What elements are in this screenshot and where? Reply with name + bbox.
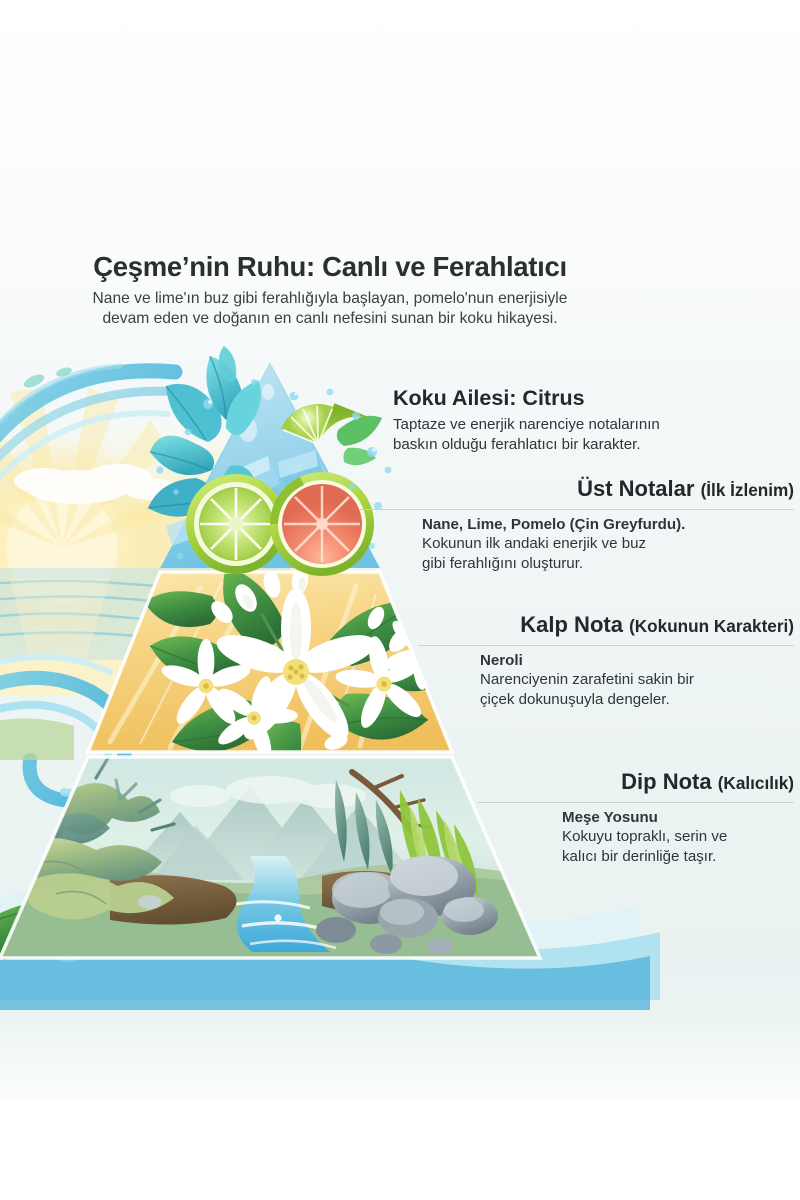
info-block-base-note: Dip Nota (Kalıcılık) Meşe Yosunu Kokuyu … [478, 770, 794, 866]
heart-note-heading-main: Kalp Nota [520, 612, 623, 637]
top-notes-connector-line [360, 509, 794, 510]
top-notes-line-2: gibi ferahlığını oluşturur. [422, 555, 583, 572]
heart-note-connector-line [418, 645, 794, 646]
subtitle-line-1: Nane ve lime'ın buz gibi ferahlığıyla ba… [93, 290, 568, 307]
fragrance-family-body: Taptaze ve enerjik narenciye notalarının… [393, 415, 793, 454]
fragrance-family-line-2: baskın olduğu ferahlatıcı bir karakter. [393, 436, 641, 453]
top-notes-list: Nane, Lime, Pomelo (Çin Greyfurdu). [422, 516, 685, 533]
info-block-top-notes: Üst Notalar (İlk İzlenim) Nane, Lime, Po… [360, 477, 794, 573]
grapefruit-wedge [270, 472, 374, 576]
base-note-connector-line [478, 802, 794, 803]
heart-note-heading: Kalp Nota (Kokunun Karakteri) [418, 613, 794, 638]
info-block-fragrance-family: Koku Ailesi: Citrus Taptaze ve enerjik n… [393, 386, 793, 454]
base-note-line-2: kalıcı bir derinliğe taşır. [562, 848, 716, 865]
header-block: Çeşme’nin Ruhu: Canlı ve Ferahlatıcı Nan… [0, 252, 660, 330]
fragrance-family-heading: Koku Ailesi: Citrus [393, 386, 793, 410]
fragrance-family-line-1: Taptaze ve enerjik narenciye notalarının [393, 416, 660, 433]
top-notes-heading-paren: (İlk İzlenim) [701, 480, 794, 500]
page-title: Çeşme’nin Ruhu: Canlı ve Ferahlatıcı [0, 252, 660, 283]
top-notes-body: Nane, Lime, Pomelo (Çin Greyfurdu). Koku… [360, 515, 794, 573]
infographic-canvas: Çeşme’nin Ruhu: Canlı ve Ferahlatıcı Nan… [0, 0, 800, 1200]
heart-note-line-2: çiçek dokunuşuyla dengeler. [480, 691, 670, 708]
heart-note-heading-paren: (Kokunun Karakteri) [629, 616, 794, 636]
base-note-line-1: Kokuyu topraklı, serin ve [562, 828, 727, 845]
base-note-list: Meşe Yosunu [562, 809, 658, 826]
top-notes-line-1: Kokunun ilk andaki enerjik ve buz [422, 535, 646, 552]
subtitle-line-2: devam eden ve doğanın en canlı nefesini … [102, 310, 557, 327]
base-note-body: Meşe Yosunu Kokuyu topraklı, serin ve ka… [478, 808, 794, 866]
info-block-heart-note: Kalp Nota (Kokunun Karakteri) Neroli Nar… [418, 613, 794, 709]
fragrance-pyramid-illustration [0, 0, 800, 1200]
heart-note-list: Neroli [480, 652, 523, 669]
base-note-heading-main: Dip Nota [621, 769, 711, 794]
base-note-heading: Dip Nota (Kalıcılık) [478, 770, 794, 795]
pyramid-tier-base [0, 750, 560, 970]
top-notes-heading-main: Üst Notalar [577, 476, 694, 501]
top-notes-heading: Üst Notalar (İlk İzlenim) [360, 477, 794, 502]
page-subtitle: Nane ve lime'ın buz gibi ferahlığıyla ba… [0, 289, 660, 330]
heart-note-line-1: Narenciyenin zarafetini sakin bir [480, 671, 694, 688]
heart-note-body: Neroli Narenciyenin zarafetini sakin bir… [418, 651, 794, 709]
base-note-heading-paren: (Kalıcılık) [718, 773, 794, 793]
